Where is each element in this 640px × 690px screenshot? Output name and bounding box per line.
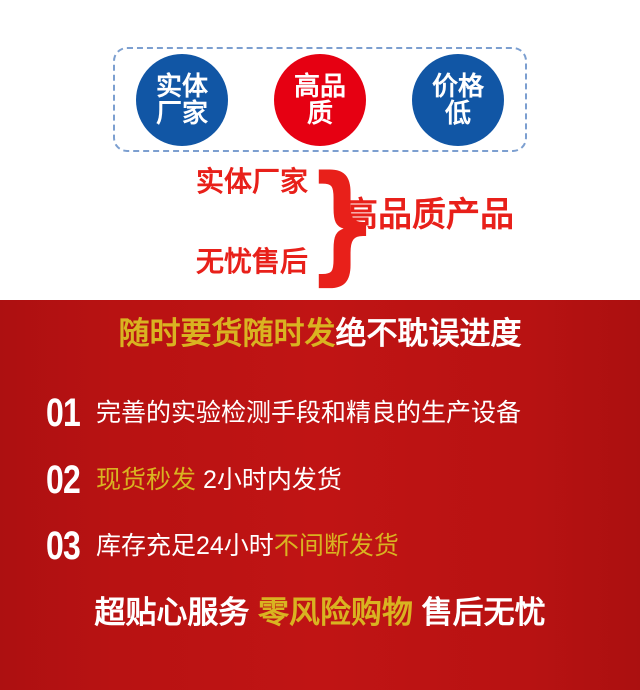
panel-footer: 超贴心服务 零风险购物 售后无忧 [0, 597, 640, 628]
feature-row: 01 完善的实验检测手段和精良的生产设备 [46, 390, 606, 436]
slogan-left-lines: 实体厂家 无忧售后 [168, 168, 308, 276]
feature-text-segment: 不间断发货 [274, 532, 399, 560]
feature-text-segment: 2小时内发货 [196, 466, 342, 494]
slogan-block: 实体厂家 无忧售后 } 高品质产品 [0, 168, 640, 278]
slogan-left-line-1: 实体厂家 [196, 168, 308, 196]
badge-circle-2-line-1: 高品 [294, 73, 346, 100]
badge-row: 实体 厂家 高品 质 价格 低 [113, 40, 527, 160]
feature-text-segment: 库存充足24小时 [96, 532, 274, 560]
panel-footer-segment: 零风险购物 [258, 595, 413, 630]
top-white-section: 实体 厂家 高品 质 价格 低 实体厂家 无忧售后 } 高品质产品 [0, 0, 640, 300]
feature-row: 02 现货秒发 2小时内发货 [46, 457, 606, 503]
feature-text-segment: 完善的实验检测手段和精良的生产设备 [96, 399, 521, 427]
curly-brace-icon: } [306, 154, 346, 294]
red-feature-panel: 随时要货随时发绝不耽误进度 01 完善的实验检测手段和精良的生产设备 02 现货… [0, 300, 640, 690]
badge-circle-1-line-2: 厂家 [156, 100, 208, 127]
feature-number: 02 [46, 460, 91, 500]
feature-text: 完善的实验检测手段和精良的生产设备 [96, 401, 521, 426]
badge-circle-3-line-1: 价格 [432, 73, 484, 100]
panel-header-gold-text: 随时要货随时发 [119, 316, 336, 351]
panel-header: 随时要货随时发绝不耽误进度 [0, 318, 640, 349]
badge-circle-3: 价格 低 [412, 54, 504, 146]
slogan-left-line-2: 无忧售后 [196, 248, 308, 276]
badge-circle-1: 实体 厂家 [136, 54, 228, 146]
feature-text: 库存充足24小时不间断发货 [96, 534, 399, 559]
badge-circle-1-line-1: 实体 [156, 73, 208, 100]
badge-circle-3-line-2: 低 [445, 100, 471, 127]
panel-header-white-text: 绝不耽误进度 [336, 316, 522, 351]
feature-number: 03 [46, 526, 91, 566]
badge-circle-2: 高品 质 [274, 54, 366, 146]
panel-footer-segment: 超贴心服务 [94, 595, 258, 630]
feature-number: 01 [46, 393, 91, 433]
feature-text: 现货秒发 2小时内发货 [96, 468, 342, 493]
feature-text-segment: 现货秒发 [96, 466, 196, 494]
badge-circle-2-line-2: 质 [307, 100, 333, 127]
panel-footer-segment: 售后无忧 [413, 595, 546, 630]
feature-row: 03 库存充足24小时不间断发货 [46, 523, 606, 569]
slogan-right-text: 高品质产品 [344, 198, 514, 232]
